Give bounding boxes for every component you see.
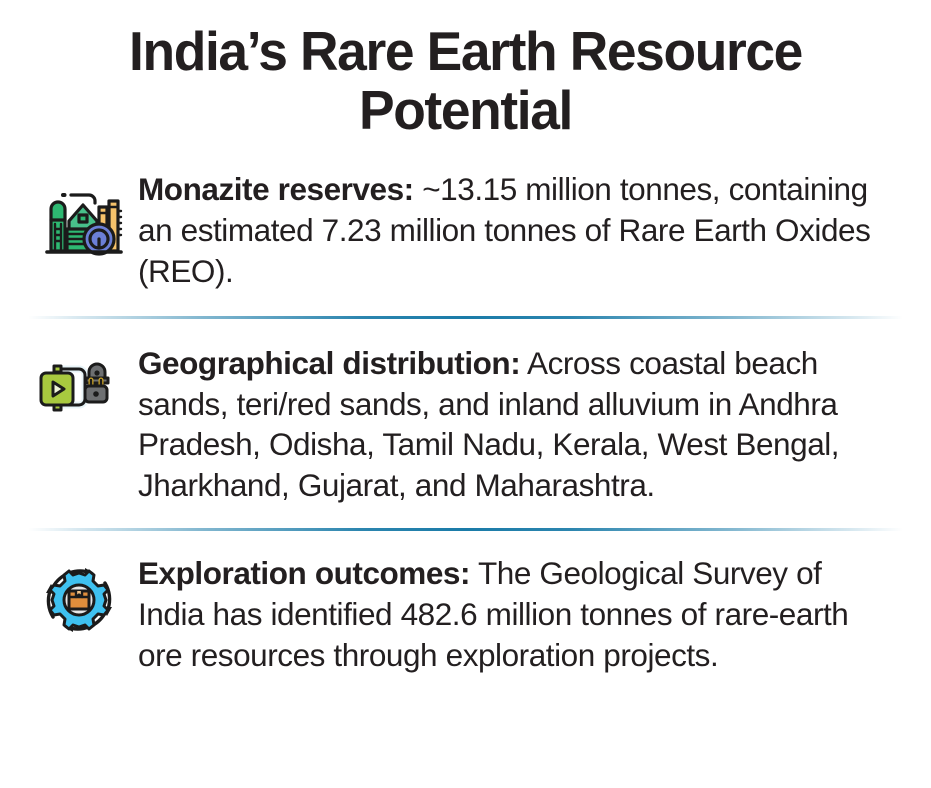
infographic-card: India’s Rare Earth Resource Potential — [0, 0, 931, 788]
section-paragraph: Exploration outcomes: The Geological Sur… — [138, 553, 879, 676]
section-lead-label: Geographical distribution: — [138, 345, 520, 381]
section-geographical-distribution: Geographical distribution: Across coasta… — [0, 343, 931, 507]
section-icon-cell — [20, 169, 138, 265]
section-icon-cell — [20, 553, 138, 643]
sections-list: Monazite reserves: ~13.15 million tonnes… — [0, 169, 931, 676]
section-text-cell: Exploration outcomes: The Geological Sur… — [138, 553, 887, 676]
section-paragraph: Geographical distribution: Across coasta… — [138, 343, 879, 507]
page-title: India’s Rare Earth Resource Potential — [82, 22, 849, 141]
factory-industry-icon — [33, 173, 125, 265]
section-text-cell: Monazite reserves: ~13.15 million tonnes… — [138, 169, 887, 292]
power-plug-adapter-icon — [37, 347, 121, 427]
section-monazite-reserves: Monazite reserves: ~13.15 million tonnes… — [0, 169, 931, 292]
section-icon-cell — [20, 343, 138, 427]
section-lead-label: Monazite reserves: — [138, 171, 414, 207]
section-exploration-outcomes: Exploration outcomes: The Geological Sur… — [0, 553, 931, 676]
section-paragraph: Monazite reserves: ~13.15 million tonnes… — [138, 169, 879, 292]
title-block: India’s Rare Earth Resource Potential — [0, 0, 931, 141]
section-lead-label: Exploration outcomes: — [138, 555, 470, 591]
section-text-cell: Geographical distribution: Across coasta… — [138, 343, 887, 507]
gear-package-cycle-icon — [36, 557, 122, 643]
